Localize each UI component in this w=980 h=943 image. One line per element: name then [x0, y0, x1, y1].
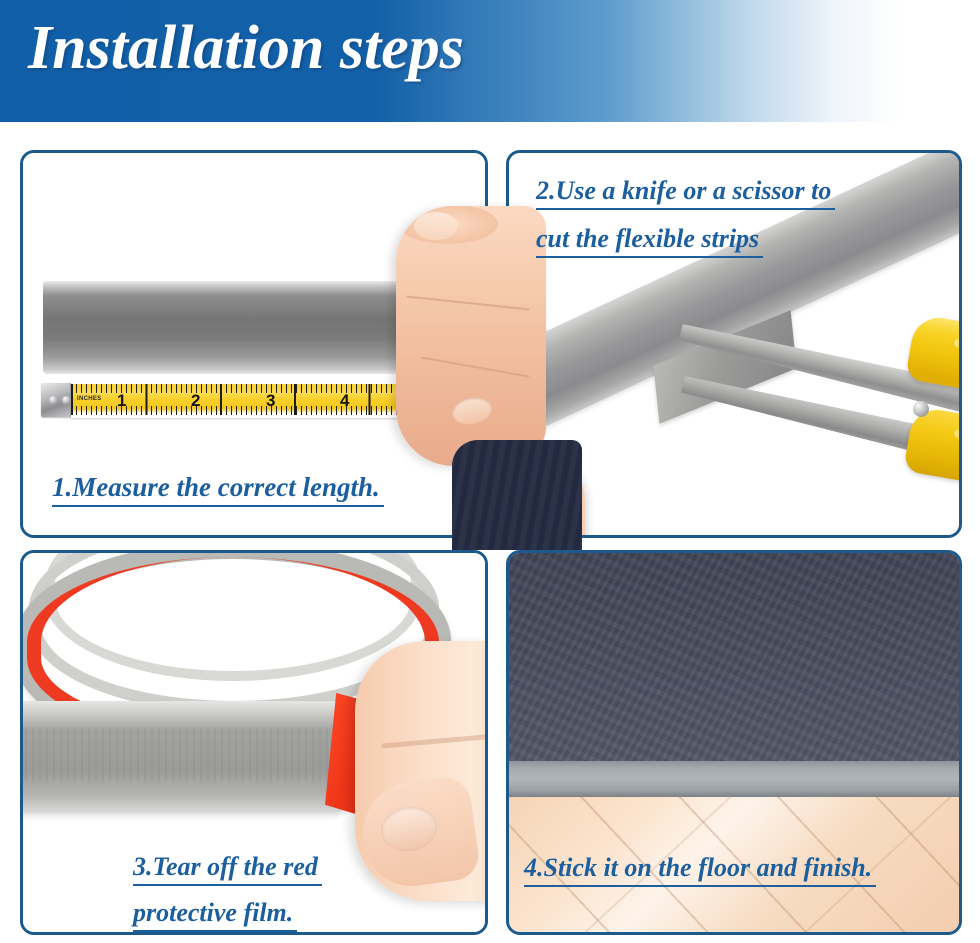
handle-groove [954, 429, 959, 460]
tape-hook-icon [41, 383, 75, 417]
step-4-caption-line-1: 4.Stick it on the floor and finish. [524, 853, 876, 887]
tape-inches-label: INCHES [77, 396, 101, 402]
step-3-caption-line-2-wrap: protective film. [133, 898, 297, 932]
strip-adhesive-texture [23, 727, 351, 781]
step-1-sleeve-graphic [452, 440, 582, 550]
handle-groove [953, 339, 959, 371]
fingertip-highlight [414, 212, 458, 240]
finger-crease [381, 730, 485, 748]
finger-crease [406, 296, 530, 311]
step-2-caption-line-2-wrap: cut the flexible strips [536, 224, 763, 258]
wall-surface-graphic [509, 553, 959, 761]
header-banner: Installation steps [0, 0, 980, 122]
installed-strip-graphic [509, 761, 959, 797]
finger-crease [421, 356, 530, 377]
tape-rivet-icon [49, 396, 58, 405]
step-1-caption: 1.Measure the correct length. [52, 472, 384, 507]
step-3-caption-line-2: protective film. [133, 898, 297, 932]
installation-steps-infographic: Installation steps INCHES 1 2 3 [0, 0, 980, 943]
step-1-caption-line-1: 1.Measure the correct length. [52, 472, 384, 507]
step-2-caption-line-1-wrap: 2.Use a knife or a scissor to [536, 176, 835, 210]
fingernail-graphic [450, 394, 495, 428]
step-3-hand-graphic [355, 641, 485, 901]
step-4-caption-wrap: 4.Stick it on the floor and finish. [524, 853, 876, 887]
strip-front-face-graphic [23, 701, 351, 813]
tape-number-2: 2 [191, 391, 200, 411]
tape-number-4: 4 [340, 391, 349, 411]
tape-rivet-icon [62, 396, 71, 405]
tape-number-3: 3 [266, 391, 275, 411]
step-1-hand-graphic [396, 206, 546, 466]
tape-number-1: 1 [117, 391, 126, 411]
page-title: Installation steps [28, 17, 464, 79]
scissor-pivot-screw-icon [913, 401, 929, 417]
step-3-caption-line-1-wrap: 3.Tear off the red [133, 852, 322, 886]
step-2-caption-line-1: 2.Use a knife or a scissor to [536, 176, 835, 210]
step-2-caption-line-2: cut the flexible strips [536, 224, 763, 258]
step-3-caption-line-1: 3.Tear off the red [133, 852, 322, 886]
